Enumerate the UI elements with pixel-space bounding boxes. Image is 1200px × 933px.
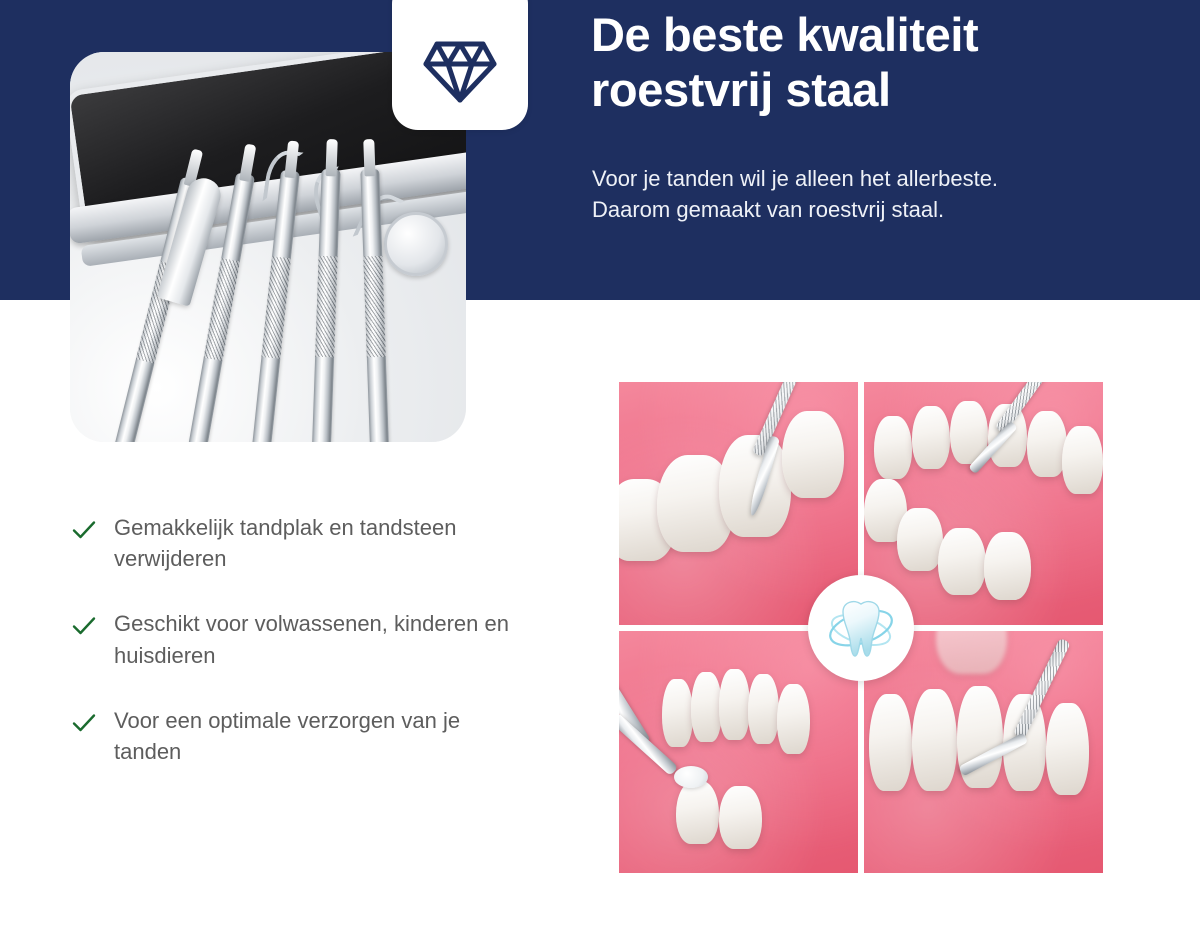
headline-line-1: De beste kwaliteit (591, 8, 1171, 63)
tooth-icon (821, 588, 901, 668)
header-subtext: Voor je tanden wil je alleen het allerbe… (592, 163, 1172, 225)
headline-line-2: roestvrij staal (591, 63, 1171, 118)
subtext-line-2: Daarom gemaakt van roestvrij staal. (592, 194, 1172, 225)
tooth (1046, 703, 1089, 795)
tooth (691, 672, 722, 742)
tooth (938, 528, 986, 596)
check-icon (70, 612, 98, 640)
feature-label: Voor een optimale verzorgen van je tande… (114, 705, 514, 767)
tooth (869, 694, 912, 791)
tooth (748, 674, 779, 744)
dental-illustration-grid (619, 382, 1103, 873)
tooth (782, 411, 844, 498)
tooth (1062, 426, 1103, 494)
feature-label: Gemakkelijk tandplak en tandsteen verwij… (114, 512, 514, 574)
tooth (912, 406, 950, 469)
tooth (662, 679, 693, 747)
quality-badge (392, 0, 528, 130)
list-item: Gemakkelijk tandplak en tandsteen verwij… (70, 512, 540, 574)
subtext-line-1: Voor je tanden wil je alleen het allerbe… (592, 163, 1172, 194)
tooth (984, 532, 1032, 600)
feature-label: Geschikt voor volwassenen, kinderen en h… (114, 608, 514, 670)
tooth-blurred (936, 631, 1008, 675)
tooth (897, 508, 942, 571)
tooth (719, 786, 762, 849)
check-icon (70, 709, 98, 737)
infographic-page: De beste kwaliteit roestvrij staal Voor … (0, 0, 1200, 933)
tooth (874, 416, 912, 479)
tooth (777, 684, 810, 754)
tooth (676, 781, 719, 844)
tooth (912, 689, 957, 791)
center-tooth-badge (808, 575, 914, 681)
tooth (719, 669, 750, 739)
check-icon (70, 516, 98, 544)
list-item: Geschikt voor volwassenen, kinderen en h… (70, 608, 540, 670)
feature-list: Gemakkelijk tandplak en tandsteen verwij… (70, 512, 540, 767)
page-title: De beste kwaliteit roestvrij staal (591, 8, 1171, 118)
tooth (1027, 411, 1068, 476)
list-item: Voor een optimale verzorgen van je tande… (70, 705, 540, 767)
diamond-icon (423, 40, 497, 104)
